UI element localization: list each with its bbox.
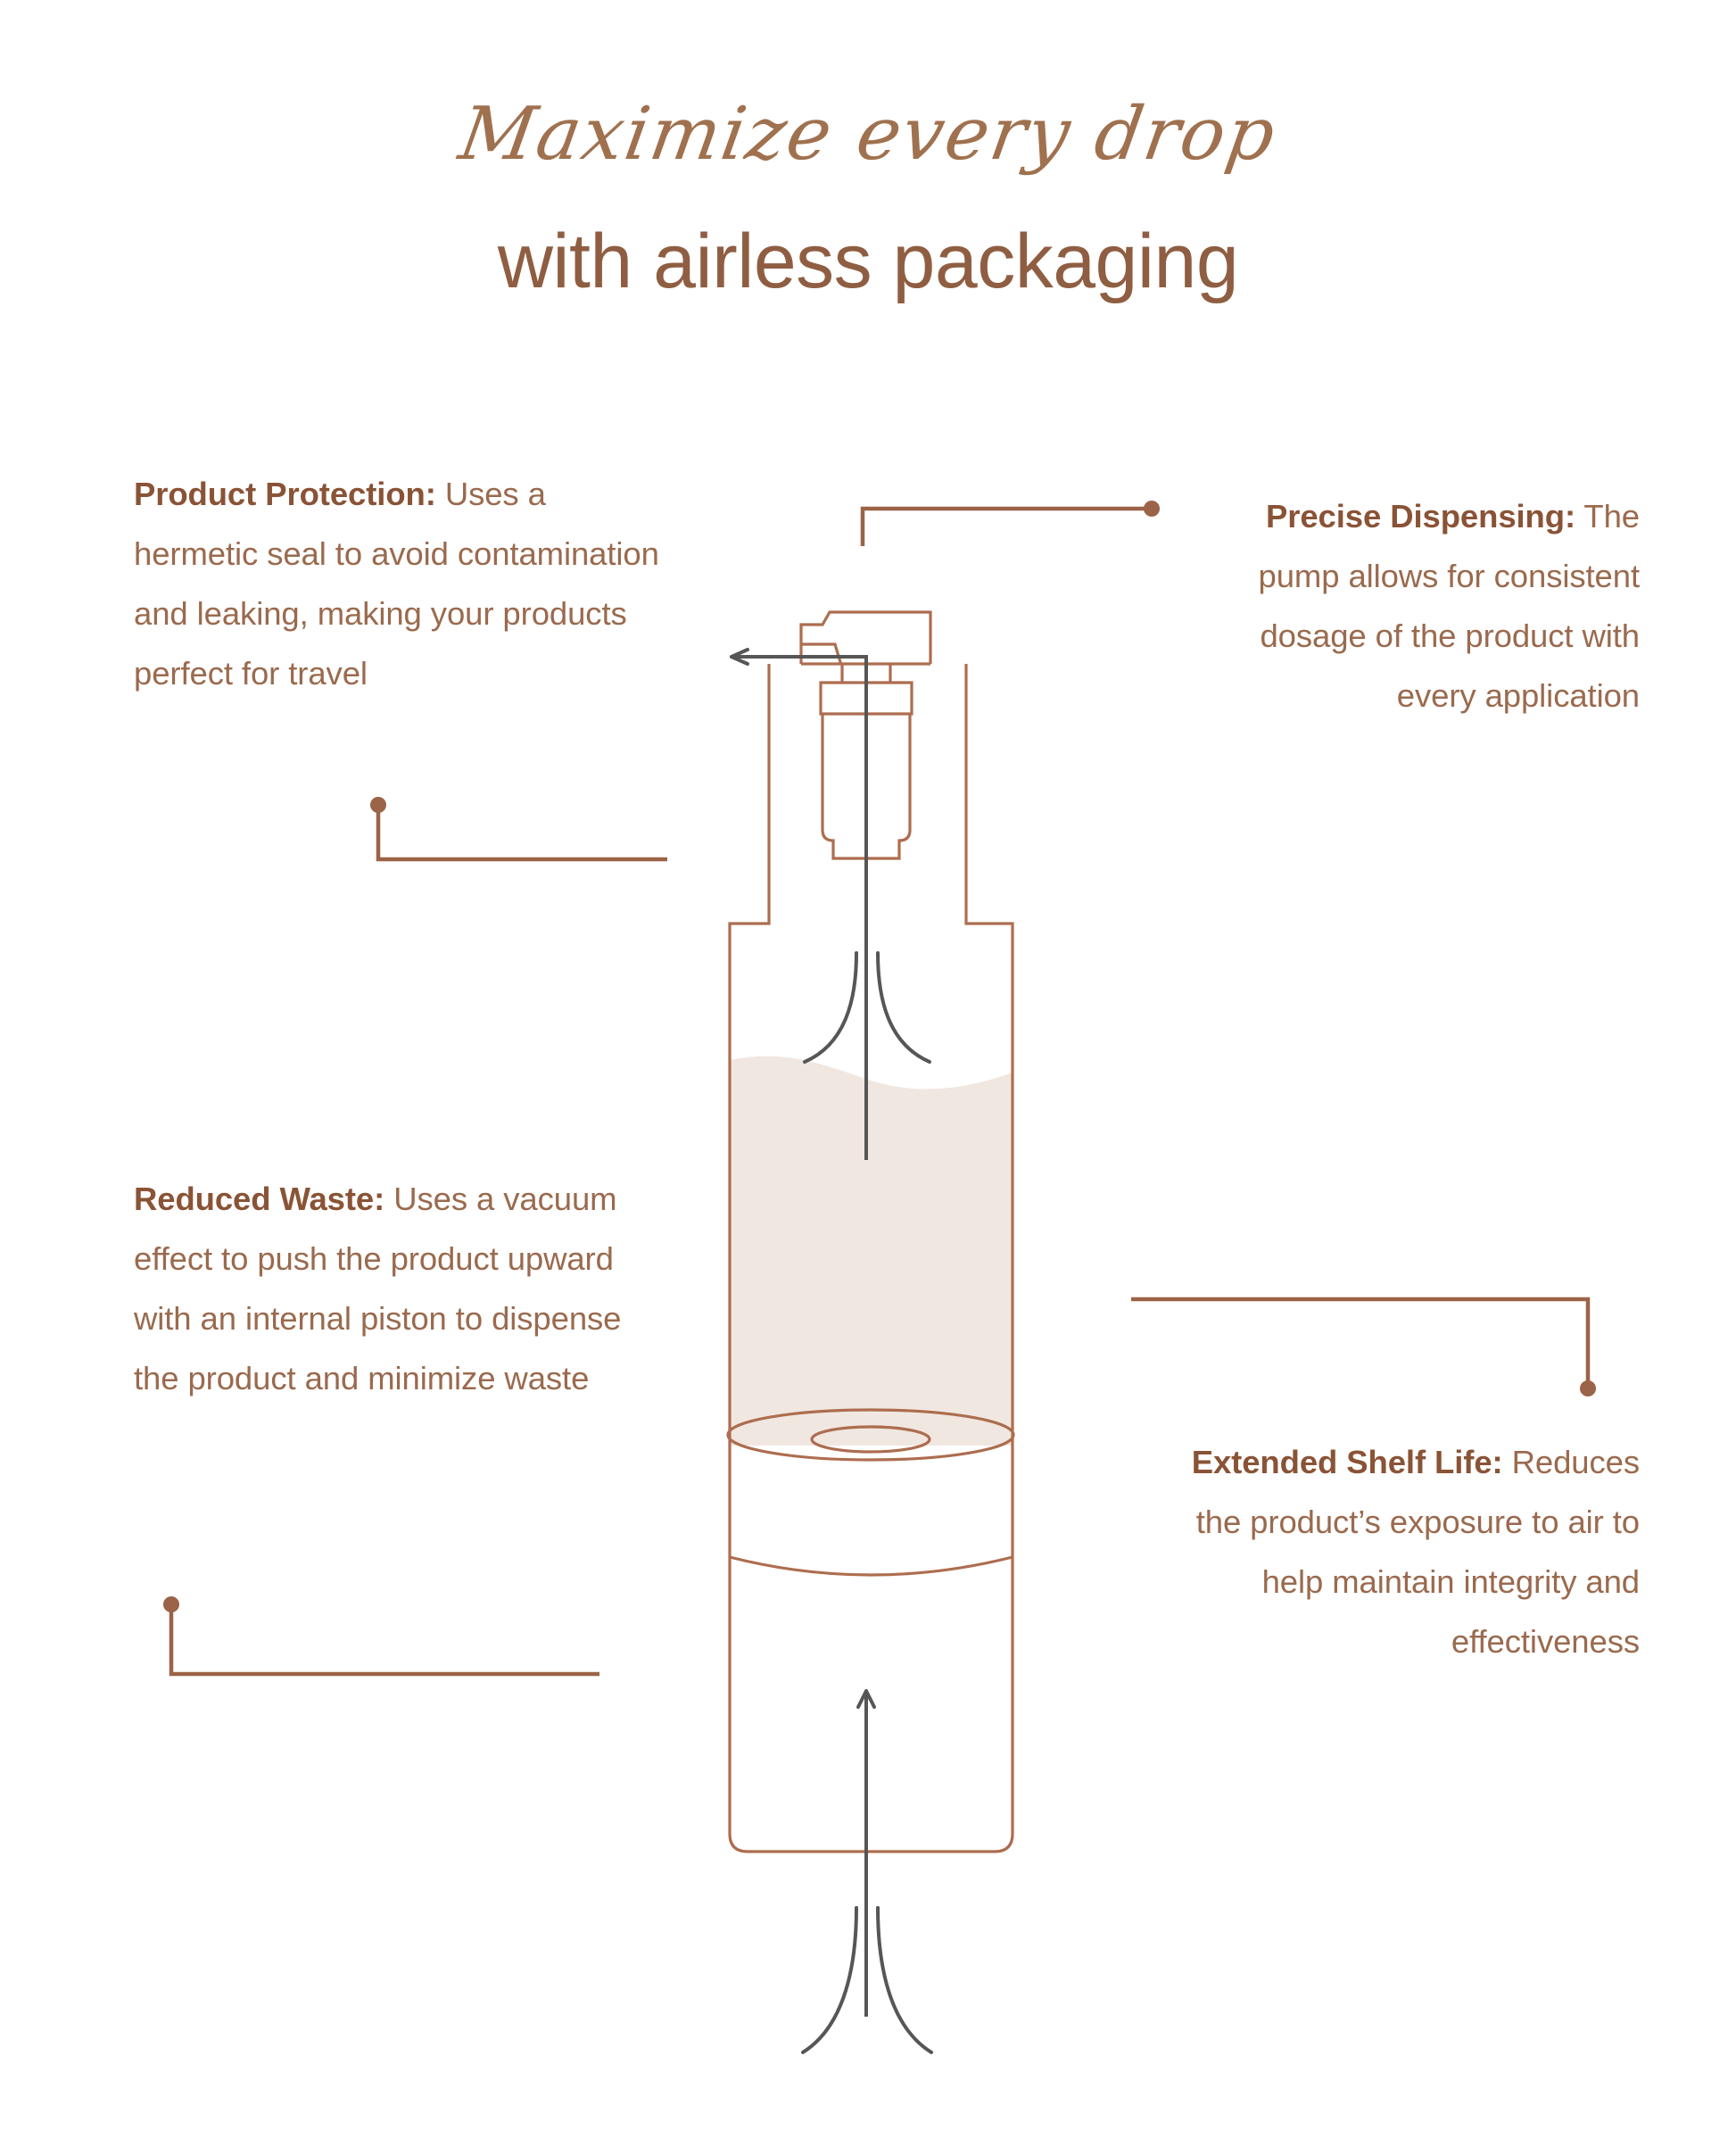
bottom-tube-flare-left <box>803 1908 856 2052</box>
pump-collar <box>821 683 912 714</box>
header: Maximize every drop with airless packagi… <box>0 0 1736 375</box>
connector-precise-dispensing <box>863 501 1160 546</box>
callout-heading-reduced-waste: Reduced Waste: <box>134 1181 384 1217</box>
callout-precise-dispensing: Precise Dispensing: The pump allows for … <box>1194 486 1640 725</box>
dispense-arrow <box>732 650 866 664</box>
callout-reduced-waste: Reduced Waste: Uses a vacuum effect to p… <box>134 1169 633 1408</box>
tube-flare-right <box>878 953 930 1062</box>
connector-reduced-waste <box>163 1596 599 1674</box>
bottle-shoulder-left <box>730 664 769 954</box>
script-title: Maximize every drop <box>0 98 1736 171</box>
bottom-tube-flare-right <box>878 1908 931 2052</box>
connector-product-protection <box>370 797 667 859</box>
pump-nozzle-lip <box>801 644 840 664</box>
connector-dot-precise-dispensing <box>1144 501 1160 517</box>
tube-flare-left <box>805 953 856 1062</box>
connector-dot-reduced-waste <box>163 1596 179 1612</box>
pump-chamber <box>823 714 910 858</box>
internal-piston-outer <box>728 1410 1013 1460</box>
page-title: with airless packaging <box>0 223 1736 300</box>
vacuum-arrow <box>858 1691 874 1901</box>
callout-heading-precise-dispensing: Precise Dispensing: <box>1266 498 1575 534</box>
callout-heading-extended-shelf-life: Extended Shelf Life: <box>1192 1444 1503 1480</box>
piston-band-divider <box>730 1557 1013 1575</box>
callout-heading-product-protection: Product Protection: <box>134 476 436 512</box>
bottle-shoulder-right <box>966 664 1013 954</box>
internal-piston-inner <box>812 1427 930 1452</box>
connector-dot-product-protection <box>370 797 386 813</box>
callout-product-protection: Product Protection: Uses a hermetic seal… <box>134 464 669 703</box>
pump-stem <box>842 664 890 683</box>
connector-extended-shelf-life <box>1131 1299 1596 1396</box>
callout-extended-shelf-life: Extended Shelf Life: Reduces the product… <box>1186 1432 1640 1671</box>
connector-dot-extended-shelf-life <box>1580 1380 1596 1396</box>
bottle-body-outline <box>730 954 1013 1852</box>
product-liquid <box>723 1057 1021 1446</box>
pump-head-top <box>801 612 930 664</box>
